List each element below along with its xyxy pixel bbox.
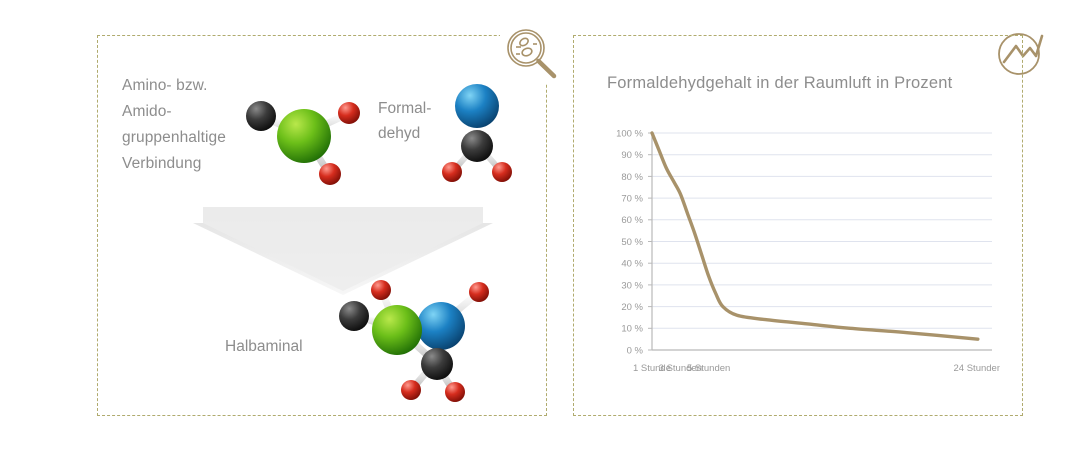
chart-title: Formaldehydgehalt in der Raumluft in Pro…	[607, 74, 952, 93]
chart-line-series	[652, 133, 978, 339]
formaldehyde-molecule	[436, 72, 518, 190]
chart-y-tick-label: 50 %	[621, 237, 643, 248]
chart-y-tick-label: 80 %	[621, 172, 643, 183]
chart-y-tick-label: 90 %	[621, 150, 643, 161]
chart-y-axis-labels: 100 %90 %80 %70 %60 %50 %40 %30 %20 %10 …	[616, 128, 643, 356]
chart-x-tick-label: 24 Stunden	[954, 363, 1000, 374]
formaldehyde-decay-chart: 100 %90 %80 %70 %60 %50 %40 %30 %20 %10 …	[600, 118, 1000, 380]
formaldehyde-label: Formal- dehyd	[378, 96, 431, 146]
formaldehyde-label-line-1: Formal-	[378, 96, 431, 121]
chart-y-tick-label: 0 %	[627, 345, 644, 356]
chart-y-tick-label: 20 %	[621, 302, 643, 313]
chart-y-tick-label: 70 %	[621, 194, 643, 205]
halbaminal-molecule	[325, 276, 503, 404]
magnifier-molecule-icon	[500, 22, 562, 84]
formaldehyde-label-line-2: dehyd	[378, 121, 431, 146]
chart-y-tick-label: 100 %	[616, 128, 643, 139]
chart-gridlines	[648, 133, 992, 350]
chart-x-tick-label: 5 Stunden	[687, 363, 730, 374]
chart-y-tick-label: 60 %	[621, 215, 643, 226]
chart-x-axis-labels: 1 Stunde3 Stunden5 Stunden24 Stunden	[633, 363, 1000, 374]
amino-compound-molecule	[236, 84, 366, 194]
chart-y-tick-label: 30 %	[621, 280, 643, 291]
chart-y-tick-label: 40 %	[621, 259, 643, 270]
chart-y-tick-label: 10 %	[621, 324, 643, 335]
product-label: Halbaminal	[225, 338, 303, 356]
screenshot-root: Amino- bzw. Amido- gruppenhaltige Verbin…	[0, 0, 1080, 462]
